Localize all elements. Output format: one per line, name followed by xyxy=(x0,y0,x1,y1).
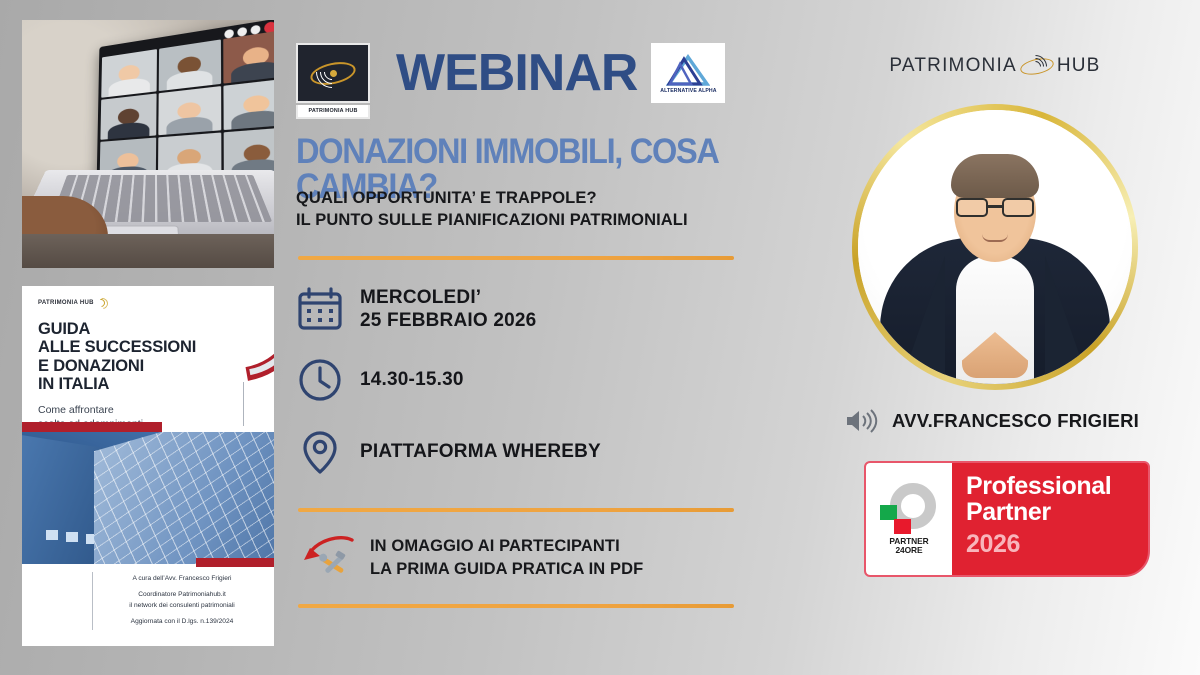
location-text: PIATTAFORMA WHEREBY xyxy=(360,440,601,463)
waves-icon xyxy=(96,298,108,307)
glass-facade xyxy=(94,432,274,564)
lens-left xyxy=(956,198,988,217)
lens-right xyxy=(1002,198,1034,217)
participant-tile xyxy=(159,86,221,136)
partner-line-2: Partner xyxy=(966,500,1148,526)
location-pin-icon xyxy=(296,428,344,476)
book-credit-rule xyxy=(92,572,93,630)
subtitle-line-1: QUALI OPPORTUNITA’ E TRAPPOLE? xyxy=(296,188,756,210)
book-credit-line-4: Aggiornata con il D.lgs. n.139/2024 xyxy=(102,617,262,628)
professional-partner-badge: PARTNER 24ORE Professional Partner 2026 xyxy=(864,461,1150,577)
book-red-tab xyxy=(196,558,274,567)
clock-icon xyxy=(296,356,344,404)
speaker-name: AVV.FRANCESCO FRIGIERI xyxy=(892,410,1139,432)
page-subtitle: QUALI OPPORTUNITA’ E TRAPPOLE? IL PUNTO … xyxy=(296,188,756,232)
wave-arc xyxy=(1019,50,1052,83)
location-row: PIATTAFORMA WHEREBY xyxy=(296,428,601,476)
header-row: PATRIMONIA HUB WEBINAR ALTERNATIVE ALPHA xyxy=(296,43,725,103)
tools-arrow-icon xyxy=(300,530,356,586)
calendar-icon xyxy=(296,285,344,333)
event-details-column: PATRIMONIA HUB WEBINAR ALTERNATIVE ALPHA… xyxy=(296,0,766,675)
divider-top xyxy=(298,256,734,260)
date-text: MERCOLEDI’ 25 FEBBRAIO 2026 xyxy=(360,286,536,332)
participant-tile xyxy=(223,29,274,83)
bonus-line-1: IN OMAGGIO AI PARTECIPANTI xyxy=(370,535,643,558)
smile xyxy=(982,234,1008,242)
guide-book-cover: PATRIMONIA HUB GUIDA ALLE SUCCESSIONI E … xyxy=(22,286,274,646)
participant-tile xyxy=(159,39,221,90)
bonus-text: IN OMAGGIO AI PARTECIPANTI LA PRIMA GUID… xyxy=(370,535,643,581)
speaker-sound-icon xyxy=(844,408,878,434)
window xyxy=(46,530,58,540)
patrimonia-badge-caption: PATRIMONIA HUB xyxy=(296,105,370,119)
speaker-column: PATRIMONIA HUB xyxy=(790,0,1200,675)
wave-arc xyxy=(309,49,354,94)
bonus-block: IN OMAGGIO AI PARTECIPANTI LA PRIMA GUID… xyxy=(300,530,643,586)
partner-logo-icon xyxy=(880,483,938,535)
webinar-flyer: PATRIMONIA HUB GUIDA ALLE SUCCESSIONI E … xyxy=(0,0,1200,675)
alternative-alpha-badge: ALTERNATIVE ALPHA xyxy=(651,43,725,103)
book-credit-line-2: Coordinatore Patrimoniahub.it xyxy=(102,590,262,601)
book-red-bar xyxy=(22,422,162,432)
webinar-label: WEBINAR xyxy=(396,47,637,99)
book-logo-text: PATRIMONIA HUB xyxy=(38,300,94,306)
book-cover-bottom: A cura dell’Avv. Francesco Frigieri Coor… xyxy=(22,564,274,646)
book-divider xyxy=(243,382,244,426)
book-subtitle-line-1: Come affrontare xyxy=(38,404,258,418)
partner-24ore-mark: PARTNER 24ORE xyxy=(866,463,952,575)
participant-tile xyxy=(101,49,157,97)
ring-center xyxy=(902,495,924,517)
subtitle-line-2: IL PUNTO SULLE PIANIFICAZIONI PATRIMONIA… xyxy=(296,210,756,232)
desk-surface xyxy=(22,234,274,268)
video-conference-photo xyxy=(22,20,274,268)
lapel-left xyxy=(899,256,945,384)
waves-icon xyxy=(310,56,356,90)
brand-right-text: HUB xyxy=(1057,55,1101,77)
alternative-alpha-caption: ALTERNATIVE ALPHA xyxy=(660,88,716,94)
time-row: 14.30-15.30 xyxy=(296,356,464,404)
window xyxy=(66,532,78,542)
participant-grid xyxy=(100,29,274,184)
partner-mark-line-2: 24ORE xyxy=(889,546,928,555)
partner-line-1: Professional xyxy=(966,474,1148,500)
patrimonia-hub-logo: PATRIMONIA HUB xyxy=(790,54,1200,78)
date-full: 25 FEBBRAIO 2026 xyxy=(360,309,536,332)
waves-icon xyxy=(1018,54,1056,78)
participant-tile xyxy=(100,93,157,140)
divider-middle xyxy=(298,508,734,512)
book-credits: A cura dell’Avv. Francesco Frigieri Coor… xyxy=(102,574,262,628)
date-weekday: MERCOLEDI’ xyxy=(360,286,536,309)
red-square xyxy=(894,519,911,534)
brand-left-text: PATRIMONIA xyxy=(889,55,1016,77)
partner-mark-caption: PARTNER 24ORE xyxy=(889,537,928,556)
book-credit-line-3: il network dei consulenti patrimoniali xyxy=(102,601,262,612)
partner-badge-text: Professional Partner 2026 xyxy=(952,463,1148,575)
partner-year: 2026 xyxy=(966,530,1148,559)
book-building-photo xyxy=(22,432,274,564)
patrimonia-hub-badge: PATRIMONIA HUB xyxy=(296,43,370,103)
eyeglasses-icon xyxy=(956,198,1034,218)
laptop-screen xyxy=(97,20,274,187)
speaker-name-row: AVV.FRANCESCO FRIGIERI xyxy=(790,408,1200,434)
bridge xyxy=(988,205,1002,208)
book-credit-line-1: A cura dell’Avv. Francesco Frigieri xyxy=(102,574,262,585)
time-text: 14.30-15.30 xyxy=(360,368,464,391)
bonus-line-2: LA PRIMA GUIDA PRATICA IN PDF xyxy=(370,558,643,581)
date-row: MERCOLEDI’ 25 FEBBRAIO 2026 xyxy=(296,285,536,333)
participant-tile xyxy=(223,78,274,131)
green-square xyxy=(880,505,897,520)
speaker-portrait xyxy=(852,104,1138,390)
book-cover-top: PATRIMONIA HUB GUIDA ALLE SUCCESSIONI E … xyxy=(22,286,274,430)
lapel-right xyxy=(1045,256,1091,384)
divider-bottom xyxy=(298,604,734,608)
triangle-icon xyxy=(666,54,710,86)
portrait-photo xyxy=(858,110,1132,384)
hair xyxy=(951,154,1039,198)
